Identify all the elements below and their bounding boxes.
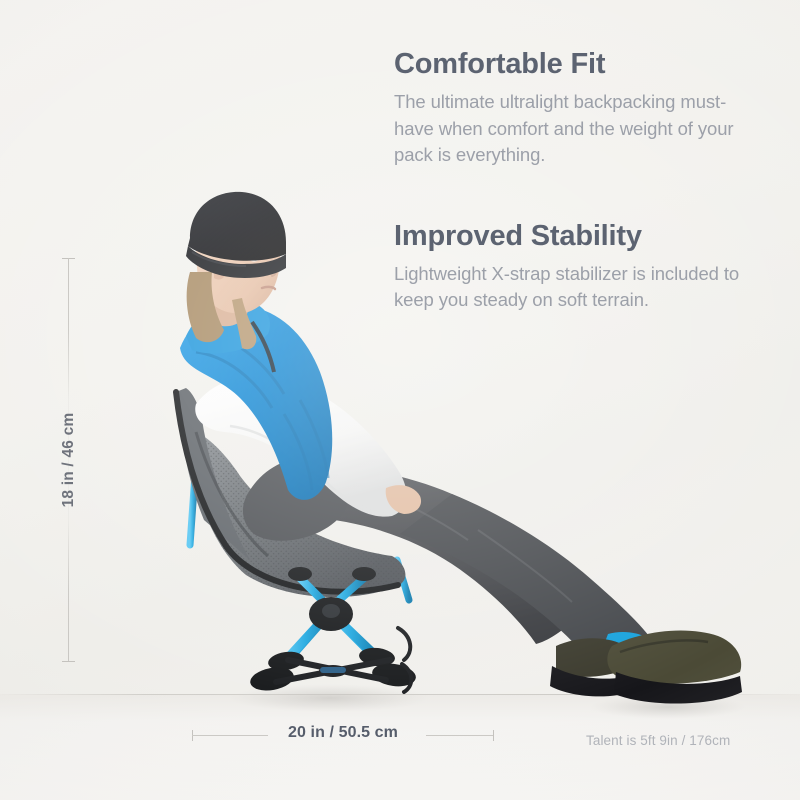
height-dimension-annotation: 18 in / 46 cm — [52, 258, 86, 662]
dimension-cap-bottom — [62, 661, 75, 662]
feature-body: Lightweight X-strap stabilizer is includ… — [394, 261, 742, 313]
dimension-line-left — [192, 735, 268, 736]
dimension-cap-right — [493, 730, 494, 741]
feature-body: The ultimate ultralight backpacking must… — [394, 89, 742, 167]
feature-title: Comfortable Fit — [394, 48, 742, 80]
height-dimension-label: 18 in / 46 cm — [60, 413, 78, 508]
copy-spacer — [394, 194, 742, 220]
width-dimension-label: 20 in / 50.5 cm — [288, 724, 398, 742]
shoe-front — [607, 631, 742, 704]
feature-copy-panel: Comfortable Fit The ultimate ultralight … — [394, 48, 742, 313]
feature-block-comfortable-fit: Comfortable Fit The ultimate ultralight … — [394, 48, 742, 168]
feature-block-improved-stability: Improved Stability Lightweight X-strap s… — [394, 220, 742, 314]
width-dimension-annotation: 20 in / 50.5 cm — [190, 724, 496, 746]
talent-height-note: Talent is 5ft 9in / 176cm — [586, 733, 730, 748]
feature-title: Improved Stability — [394, 220, 742, 252]
dimension-line-right — [426, 735, 494, 736]
beanie — [188, 192, 286, 261]
product-feature-image: Comfortable Fit The ultimate ultralight … — [0, 0, 800, 800]
